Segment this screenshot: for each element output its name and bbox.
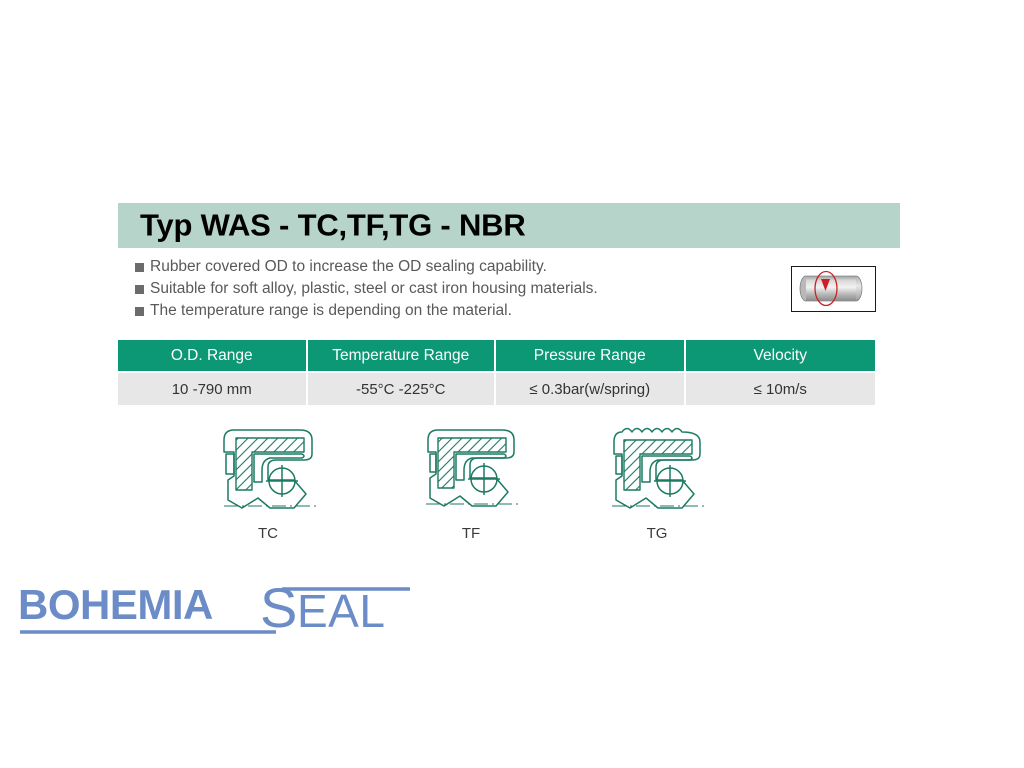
column-header-velocity: Velocity <box>686 340 876 371</box>
cell-pressure-range: ≤ 0.3bar(w/spring) <box>496 373 684 405</box>
list-item: The temperature range is depending on th… <box>135 300 735 322</box>
list-item-label: Suitable for soft alloy, plastic, steel … <box>150 278 598 300</box>
svg-text:BOHEMIA: BOHEMIA <box>18 581 213 628</box>
rotating-shaft-icon <box>791 266 876 312</box>
seal-diagram-tf: TF <box>412 418 530 542</box>
column-header-temperature-range: Temperature Range <box>308 340 495 371</box>
table-header-row: O.D. Range Temperature Range Pressure Ra… <box>118 340 875 371</box>
seal-label-tc: TC <box>208 525 328 542</box>
column-header-od-range: O.D. Range <box>118 340 306 371</box>
square-bullet-icon <box>135 263 144 272</box>
cell-od-range: 10 -790 mm <box>118 373 306 405</box>
square-bullet-icon <box>135 285 144 294</box>
seal-label-tf: TF <box>412 525 530 542</box>
seal-label-tg: TG <box>598 525 716 542</box>
list-item-label: The temperature range is depending on th… <box>150 300 512 322</box>
feature-list: Rubber covered OD to increase the OD sea… <box>135 256 735 322</box>
svg-text:S: S <box>260 576 297 639</box>
product-title-band: Typ WAS - TC,TF,TG - NBR <box>118 203 900 248</box>
table-row: 10 -790 mm -55°C -225°C ≤ 0.3bar(w/sprin… <box>118 373 875 405</box>
list-item-label: Rubber covered OD to increase the OD sea… <box>150 256 547 278</box>
list-item: Suitable for soft alloy, plastic, steel … <box>135 278 735 300</box>
column-header-pressure-range: Pressure Range <box>496 340 684 371</box>
list-item: Rubber covered OD to increase the OD sea… <box>135 256 735 278</box>
cell-velocity: ≤ 10m/s <box>686 373 876 405</box>
cell-temperature-range: -55°C -225°C <box>308 373 495 405</box>
bohemia-seal-logo: BOHEMIA S EAL <box>14 575 414 643</box>
svg-text:EAL: EAL <box>297 585 385 637</box>
seal-diagram-tg: TG <box>598 418 716 542</box>
square-bullet-icon <box>135 307 144 316</box>
seal-diagram-tc: TC <box>208 418 328 542</box>
specification-table: O.D. Range Temperature Range Pressure Ra… <box>118 340 875 405</box>
page-title: Typ WAS - TC,TF,TG - NBR <box>140 207 526 243</box>
